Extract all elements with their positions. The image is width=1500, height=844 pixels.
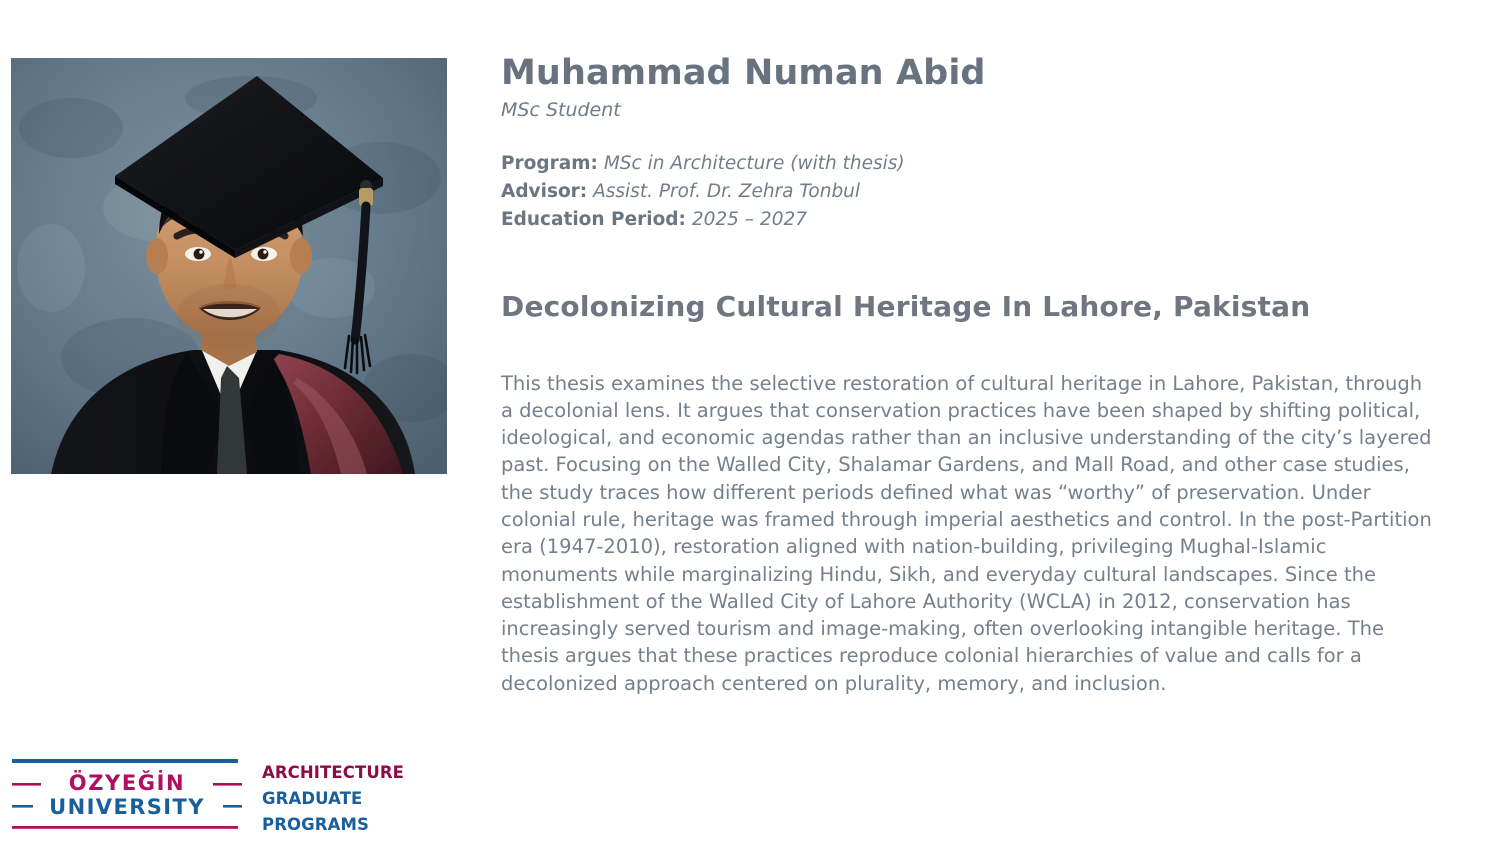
slide-root: Muhammad Numan Abid MSc Student Program:… (0, 0, 1500, 844)
detail-label-education-period: Education Period: (501, 209, 686, 230)
detail-value-education-period: 2025 – 2027 (692, 209, 807, 230)
program-line-graduate: GRADUATE (262, 786, 432, 812)
ozyegin-wordmark-top: ÖZYEĞİN (69, 770, 185, 795)
profile-details: Program: MSc in Architecture (with thesi… (501, 150, 1437, 234)
detail-row-program: Program: MSc in Architecture (with thesi… (501, 150, 1437, 178)
student-portrait (11, 58, 447, 474)
student-portrait-image (11, 58, 447, 474)
student-name: Muhammad Numan Abid (501, 55, 1437, 93)
program-line-architecture: ARCHITECTURE (262, 760, 432, 786)
detail-value-program: MSc in Architecture (with thesis) (604, 153, 905, 174)
student-role: MSc Student (501, 99, 1437, 122)
ozyegin-wordmark-bottom: UNIVERSITY (49, 795, 205, 819)
detail-label-program: Program: (501, 153, 598, 174)
detail-row-advisor: Advisor: Assist. Prof. Dr. Zehra Tonbul (501, 178, 1437, 206)
detail-row-education-period: Education Period: 2025 – 2027 (501, 206, 1437, 234)
thesis-abstract: This thesis examines the selective resto… (501, 370, 1437, 698)
profile-content: Muhammad Numan Abid MSc Student Program:… (501, 55, 1437, 697)
detail-label-advisor: Advisor: (501, 181, 587, 202)
ozyegin-university-logo-mark: ÖZYEĞİN UNIVERSITY (11, 757, 243, 835)
logo-lockup: ÖZYEĞİN UNIVERSITY ARCHITECTURE GRADUATE… (11, 757, 431, 835)
ozyegin-university-logo: ÖZYEĞİN UNIVERSITY (11, 757, 243, 835)
thesis-title: Decolonizing Cultural Heritage In Lahore… (501, 290, 1437, 324)
program-line-programs: PROGRAMS (262, 812, 432, 838)
program-wordmark: ARCHITECTURE GRADUATE PROGRAMS (262, 760, 432, 838)
detail-value-advisor: Assist. Prof. Dr. Zehra Tonbul (593, 181, 860, 202)
